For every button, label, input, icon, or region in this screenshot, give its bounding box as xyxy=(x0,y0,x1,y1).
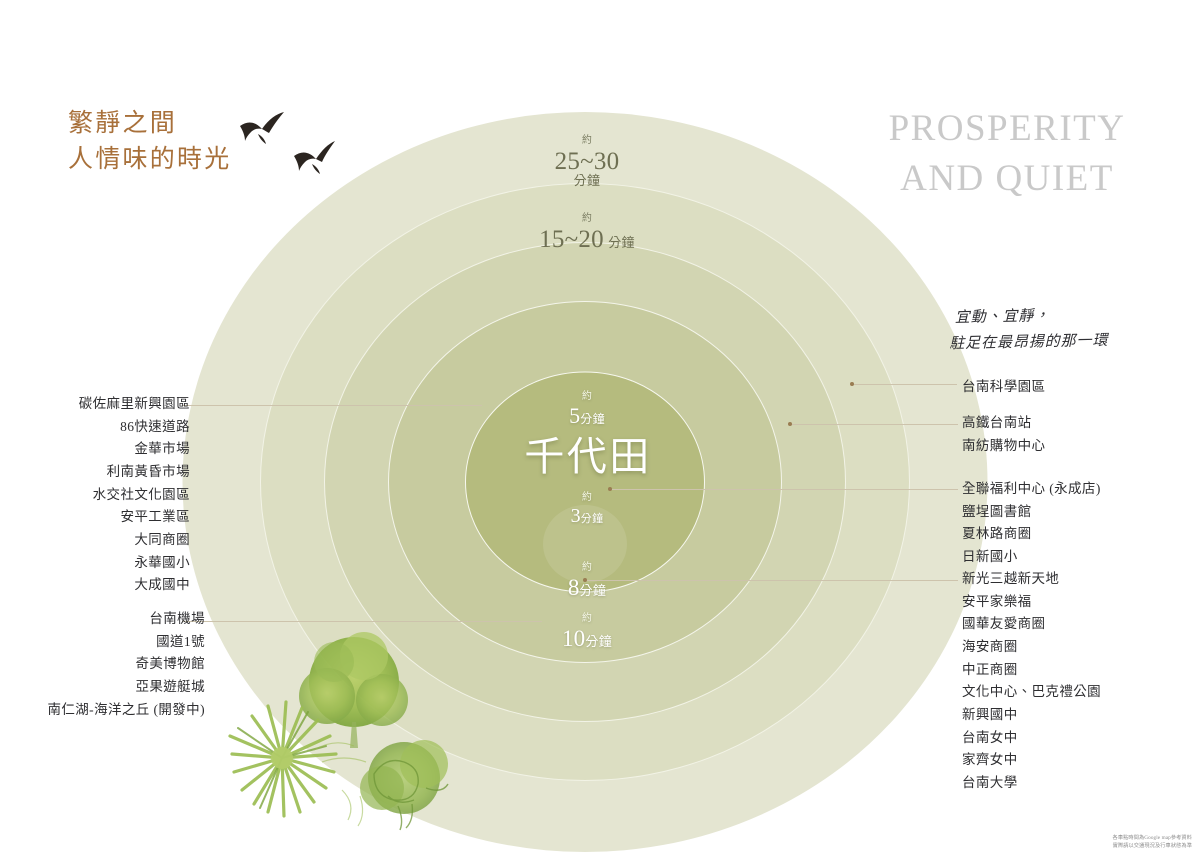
poi-item: 台南科學園區 xyxy=(962,376,1045,399)
ring-label-3-min: 約 3分鐘 xyxy=(533,493,641,526)
poi-item: 台南大學 xyxy=(962,772,1101,795)
poi-item: 大同商圈 xyxy=(0,529,190,552)
poi-item: 南仁湖-海洋之丘 (開發中) xyxy=(0,699,205,722)
poi-item: 日新國小 xyxy=(962,546,1101,569)
poi-item: 86快速道路 xyxy=(0,416,190,439)
ring-label-about: 約 xyxy=(527,136,647,146)
tree-canopy-shape xyxy=(299,632,408,748)
poi-item: 中正商圈 xyxy=(962,659,1101,682)
estate-name: 千代田 xyxy=(488,424,688,482)
ring-label-about: 約 xyxy=(529,563,645,573)
ring-label-unit: 分鐘 xyxy=(527,174,647,187)
shrub-shape xyxy=(360,740,448,830)
poi-item: 鹽埕圖書館 xyxy=(962,501,1101,524)
connector-dot-right-group-3 xyxy=(608,487,612,491)
footnote-line-1: 各車點時間為Google map參考資料 xyxy=(1113,835,1192,841)
poi-item: 家齊女中 xyxy=(962,749,1101,772)
connector-dot-right-group-2 xyxy=(788,422,792,426)
ring-label-unit: 分鐘 xyxy=(580,583,607,598)
poi-list-right-group-1: 台南科學園區 xyxy=(962,376,1045,399)
ring-label-unit: 分鐘 xyxy=(581,513,604,525)
poi-list-left-group-2: 台南機場 國道1號 奇美博物館 亞果遊艇城 南仁湖-海洋之丘 (開發中) xyxy=(0,608,205,721)
ring-label-value: 25~30 xyxy=(527,149,647,174)
ring-label-unit: 分鐘 xyxy=(608,235,635,250)
poi-item: 國華友愛商圈 xyxy=(962,613,1101,636)
calligraphy-line-1: 宜動、宜靜， xyxy=(955,308,1051,326)
poi-item: 奇美博物館 xyxy=(0,653,205,676)
headline-line-2: 人情味的時光 xyxy=(68,142,232,178)
ring-label-value: 15~20 xyxy=(539,226,604,253)
connector-dot-right-group-4 xyxy=(583,578,587,582)
poi-item: 大成國中 xyxy=(0,574,190,597)
poi-item: 利南黃昏市場 xyxy=(0,461,190,484)
ring-label-about: 約 xyxy=(529,614,645,624)
connector-line-left-group-2 xyxy=(182,621,542,622)
poi-item: 亞果遊艇城 xyxy=(0,676,205,699)
connector-line-right-group-4 xyxy=(585,580,958,581)
poi-item: 全聯福利中心 (永成店) xyxy=(962,478,1101,501)
poi-item: 夏林路商圈 xyxy=(962,523,1101,546)
poi-item: 永華國小 xyxy=(0,552,190,575)
poster-canvas: 約 25~30 分鐘 約 15~20 分鐘 約 10分鐘 約 8分鐘 約 5分鐘… xyxy=(0,0,1200,863)
watercolor-plants-illustration xyxy=(222,630,482,835)
flying-birds-illustration xyxy=(232,104,344,182)
ring-label-value: 10 xyxy=(562,626,585,651)
footnote-line-2: 實際請以交通現況及行車狀態為準 xyxy=(1113,842,1192,851)
poi-list-right-group-4: 新光三越新天地 安平家樂福 國華友愛商圈 海安商圈 中正商圈 文化中心、巴克禮公… xyxy=(962,568,1101,795)
poi-item: 海安商圈 xyxy=(962,636,1101,659)
poi-item: 金華市場 xyxy=(0,438,190,461)
poi-item: 新光三越新天地 xyxy=(962,568,1101,591)
ring-label-value: 3 xyxy=(571,505,581,527)
poi-item: 安平家樂福 xyxy=(962,591,1101,614)
poi-list-right-group-2: 高鐵台南站 南紡購物中心 xyxy=(962,412,1045,457)
ring-label-about: 約 xyxy=(529,392,645,402)
ring-label-8-min: 約 8分鐘 xyxy=(529,563,645,599)
poi-item: 文化中心、巴克禮公園 xyxy=(962,681,1101,704)
connector-dot-right-group-1 xyxy=(850,382,854,386)
poi-item: 南紡購物中心 xyxy=(962,435,1045,458)
connector-line-right-group-1 xyxy=(852,384,957,385)
poi-item: 高鐵台南站 xyxy=(962,412,1045,435)
english-heading-line-2: AND QUIET xyxy=(862,154,1152,204)
ring-label-about: 約 xyxy=(527,214,647,224)
poi-list-left-group-1: 碳佐麻里新興園區 86快速道路 金華市場 利南黃昏市場 水交社文化園區 安平工業… xyxy=(0,393,190,597)
english-heading-line-1: PROSPERITY xyxy=(889,108,1126,149)
calligraphy-caption: 宜動、宜靜， 駐足在最昂揚的那一環 xyxy=(954,301,1155,358)
ring-label-25-30-min: 約 25~30 分鐘 xyxy=(527,136,647,187)
connector-line-left-group-1 xyxy=(182,405,482,406)
poi-item: 新興國中 xyxy=(962,704,1101,727)
headline-line-1: 繁靜之間 xyxy=(68,110,177,137)
ring-label-about: 約 xyxy=(533,493,641,503)
ring-label-15-20-min: 約 15~20 分鐘 xyxy=(527,214,647,252)
poi-item: 碳佐麻里新興園區 xyxy=(0,393,190,416)
connector-line-right-group-2 xyxy=(790,424,958,425)
calligraphy-line-2: 駐足在最昂揚的那一環 xyxy=(949,327,1156,358)
poi-item: 安平工業區 xyxy=(0,506,190,529)
page-headline: 繁靜之間 人情味的時光 xyxy=(68,106,232,179)
ring-label-5-min: 約 5分鐘 xyxy=(529,392,645,427)
poi-item: 台南機場 xyxy=(0,608,205,631)
poi-item: 國道1號 xyxy=(0,631,205,654)
poi-list-right-group-3: 全聯福利中心 (永成店) 鹽埕圖書館 夏林路商圈 日新國小 xyxy=(962,478,1101,569)
poi-item: 水交社文化園區 xyxy=(0,484,190,507)
poi-item: 台南女中 xyxy=(962,727,1101,750)
disclaimer-footnote: 各車點時間為Google map參考資料 實際請以交通現況及行車狀態為準 xyxy=(1113,834,1192,851)
connector-line-right-group-3 xyxy=(610,489,958,490)
ring-label-10-min: 約 10分鐘 xyxy=(529,614,645,650)
english-heading: PROSPERITY AND QUIET xyxy=(862,104,1152,204)
ring-label-value: 8 xyxy=(568,575,580,600)
ring-label-unit: 分鐘 xyxy=(585,634,612,649)
